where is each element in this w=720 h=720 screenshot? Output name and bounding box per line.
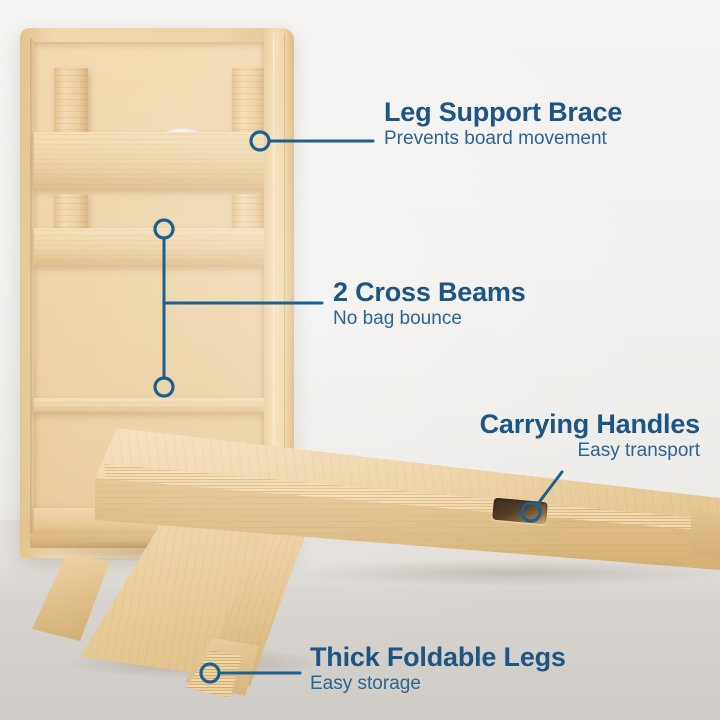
callout-thick-foldable-legs: Thick Foldable Legs Easy storage <box>310 643 566 695</box>
callout-leg-support-brace: Leg Support Brace Prevents board movemen… <box>384 98 622 150</box>
callout-subtitle: Easy transport <box>320 440 700 462</box>
callout-title: Leg Support Brace <box>384 98 622 126</box>
callout-carrying-handles: Carrying Handles Easy transport <box>320 410 700 462</box>
infographic-canvas: Leg Support Brace Prevents board movemen… <box>0 0 720 720</box>
callout-subtitle: No bag bounce <box>333 308 526 330</box>
callout-cross-beams: 2 Cross Beams No bag bounce <box>333 278 526 330</box>
callout-title: 2 Cross Beams <box>333 278 526 306</box>
callout-subtitle: Easy storage <box>310 673 566 695</box>
callout-subtitle: Prevents board movement <box>384 128 622 150</box>
callout-title: Carrying Handles <box>320 410 700 438</box>
callout-title: Thick Foldable Legs <box>310 643 566 671</box>
